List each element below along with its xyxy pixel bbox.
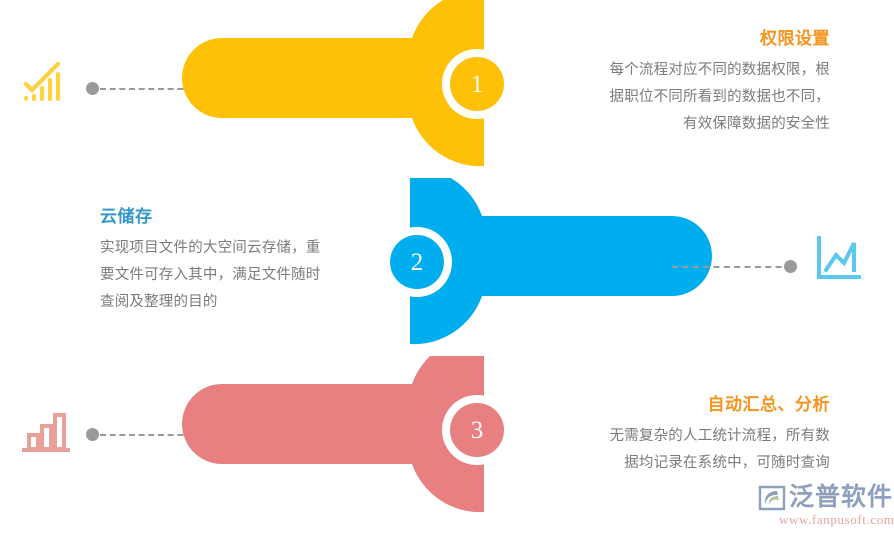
step-badge-3: 3 [450, 403, 504, 457]
infographic-row-2: 云储存 实现项目文件的大空间云存储，重 要文件可存入其中，满足文件随时 查阅及整… [0, 178, 894, 356]
section-body-line: 有效保障数据的安全性 [524, 111, 830, 138]
logo-wordmark: 泛普软件 [789, 482, 893, 512]
logo-url: www.fanpusoft.com [779, 512, 894, 528]
connector-dot-2 [784, 260, 797, 273]
section-body-3: 无需复杂的人工统计流程，所有数 据均记录在系统中，可随时查询 [524, 423, 830, 477]
infographic-canvas: 1 权限设置 每个流程对应不同的数据权限，根 据职位不同所看到的数据也不同， 有… [0, 0, 894, 535]
section-body-line: 每个流程对应不同的数据权限，根 [524, 57, 830, 84]
section-body-line: 据职位不同所看到的数据也不同， [524, 84, 830, 111]
step-number-2: 2 [411, 250, 424, 275]
step-badge-1: 1 [450, 57, 504, 111]
connector-dash-2 [672, 266, 792, 268]
section-title-1: 权限设置 [524, 28, 830, 51]
section-text-1: 权限设置 每个流程对应不同的数据权限，根 据职位不同所看到的数据也不同， 有效保… [524, 28, 830, 137]
infographic-row-1: 1 权限设置 每个流程对应不同的数据权限，根 据职位不同所看到的数据也不同， 有… [0, 0, 894, 178]
company-logo: 泛普软件 www.fanpusoft.com [757, 482, 894, 530]
step-number-1: 1 [471, 72, 484, 97]
section-body-line: 据均记录在系统中，可随时查询 [524, 450, 830, 477]
section-text-3: 自动汇总、分析 无需复杂的人工统计流程，所有数 据均记录在系统中，可随时查询 [524, 394, 830, 477]
fanpu-logo-icon [757, 484, 787, 512]
section-title-3: 自动汇总、分析 [524, 394, 830, 417]
section-body-line: 无需复杂的人工统计流程，所有数 [524, 423, 830, 450]
step-number-3: 3 [471, 418, 484, 443]
line-chart-icon [810, 230, 866, 286]
step-badge-2: 2 [390, 235, 444, 289]
section-body-1: 每个流程对应不同的数据权限，根 据职位不同所看到的数据也不同， 有效保障数据的安… [524, 57, 830, 137]
